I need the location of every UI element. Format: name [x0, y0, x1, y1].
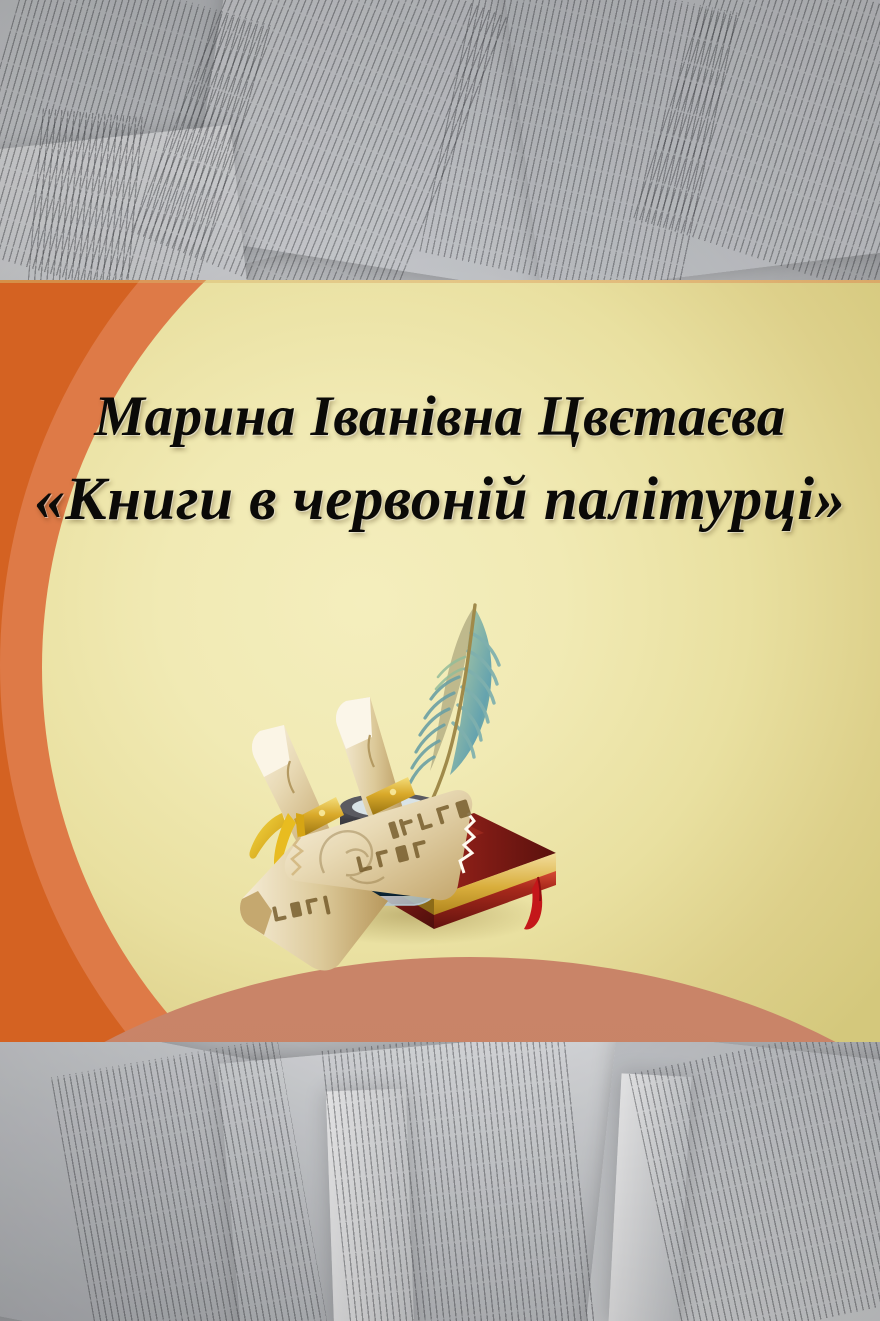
- quill-inkwell-scrolls-illustration: [238, 585, 578, 985]
- illustration-svg: [238, 585, 578, 985]
- work-title: «Книги в червоній палітурці»: [0, 469, 880, 530]
- title-slide: Марина Іванівна Цвєтаєва «Книги в червон…: [0, 0, 880, 1321]
- panel-top-edge: [0, 280, 880, 283]
- author-name: Марина Іванівна Цвєтаєва: [0, 388, 880, 445]
- content-panel: Марина Іванівна Цвєтаєва «Книги в червон…: [0, 280, 880, 1042]
- title-block: Марина Іванівна Цвєтаєва «Книги в червон…: [0, 388, 880, 530]
